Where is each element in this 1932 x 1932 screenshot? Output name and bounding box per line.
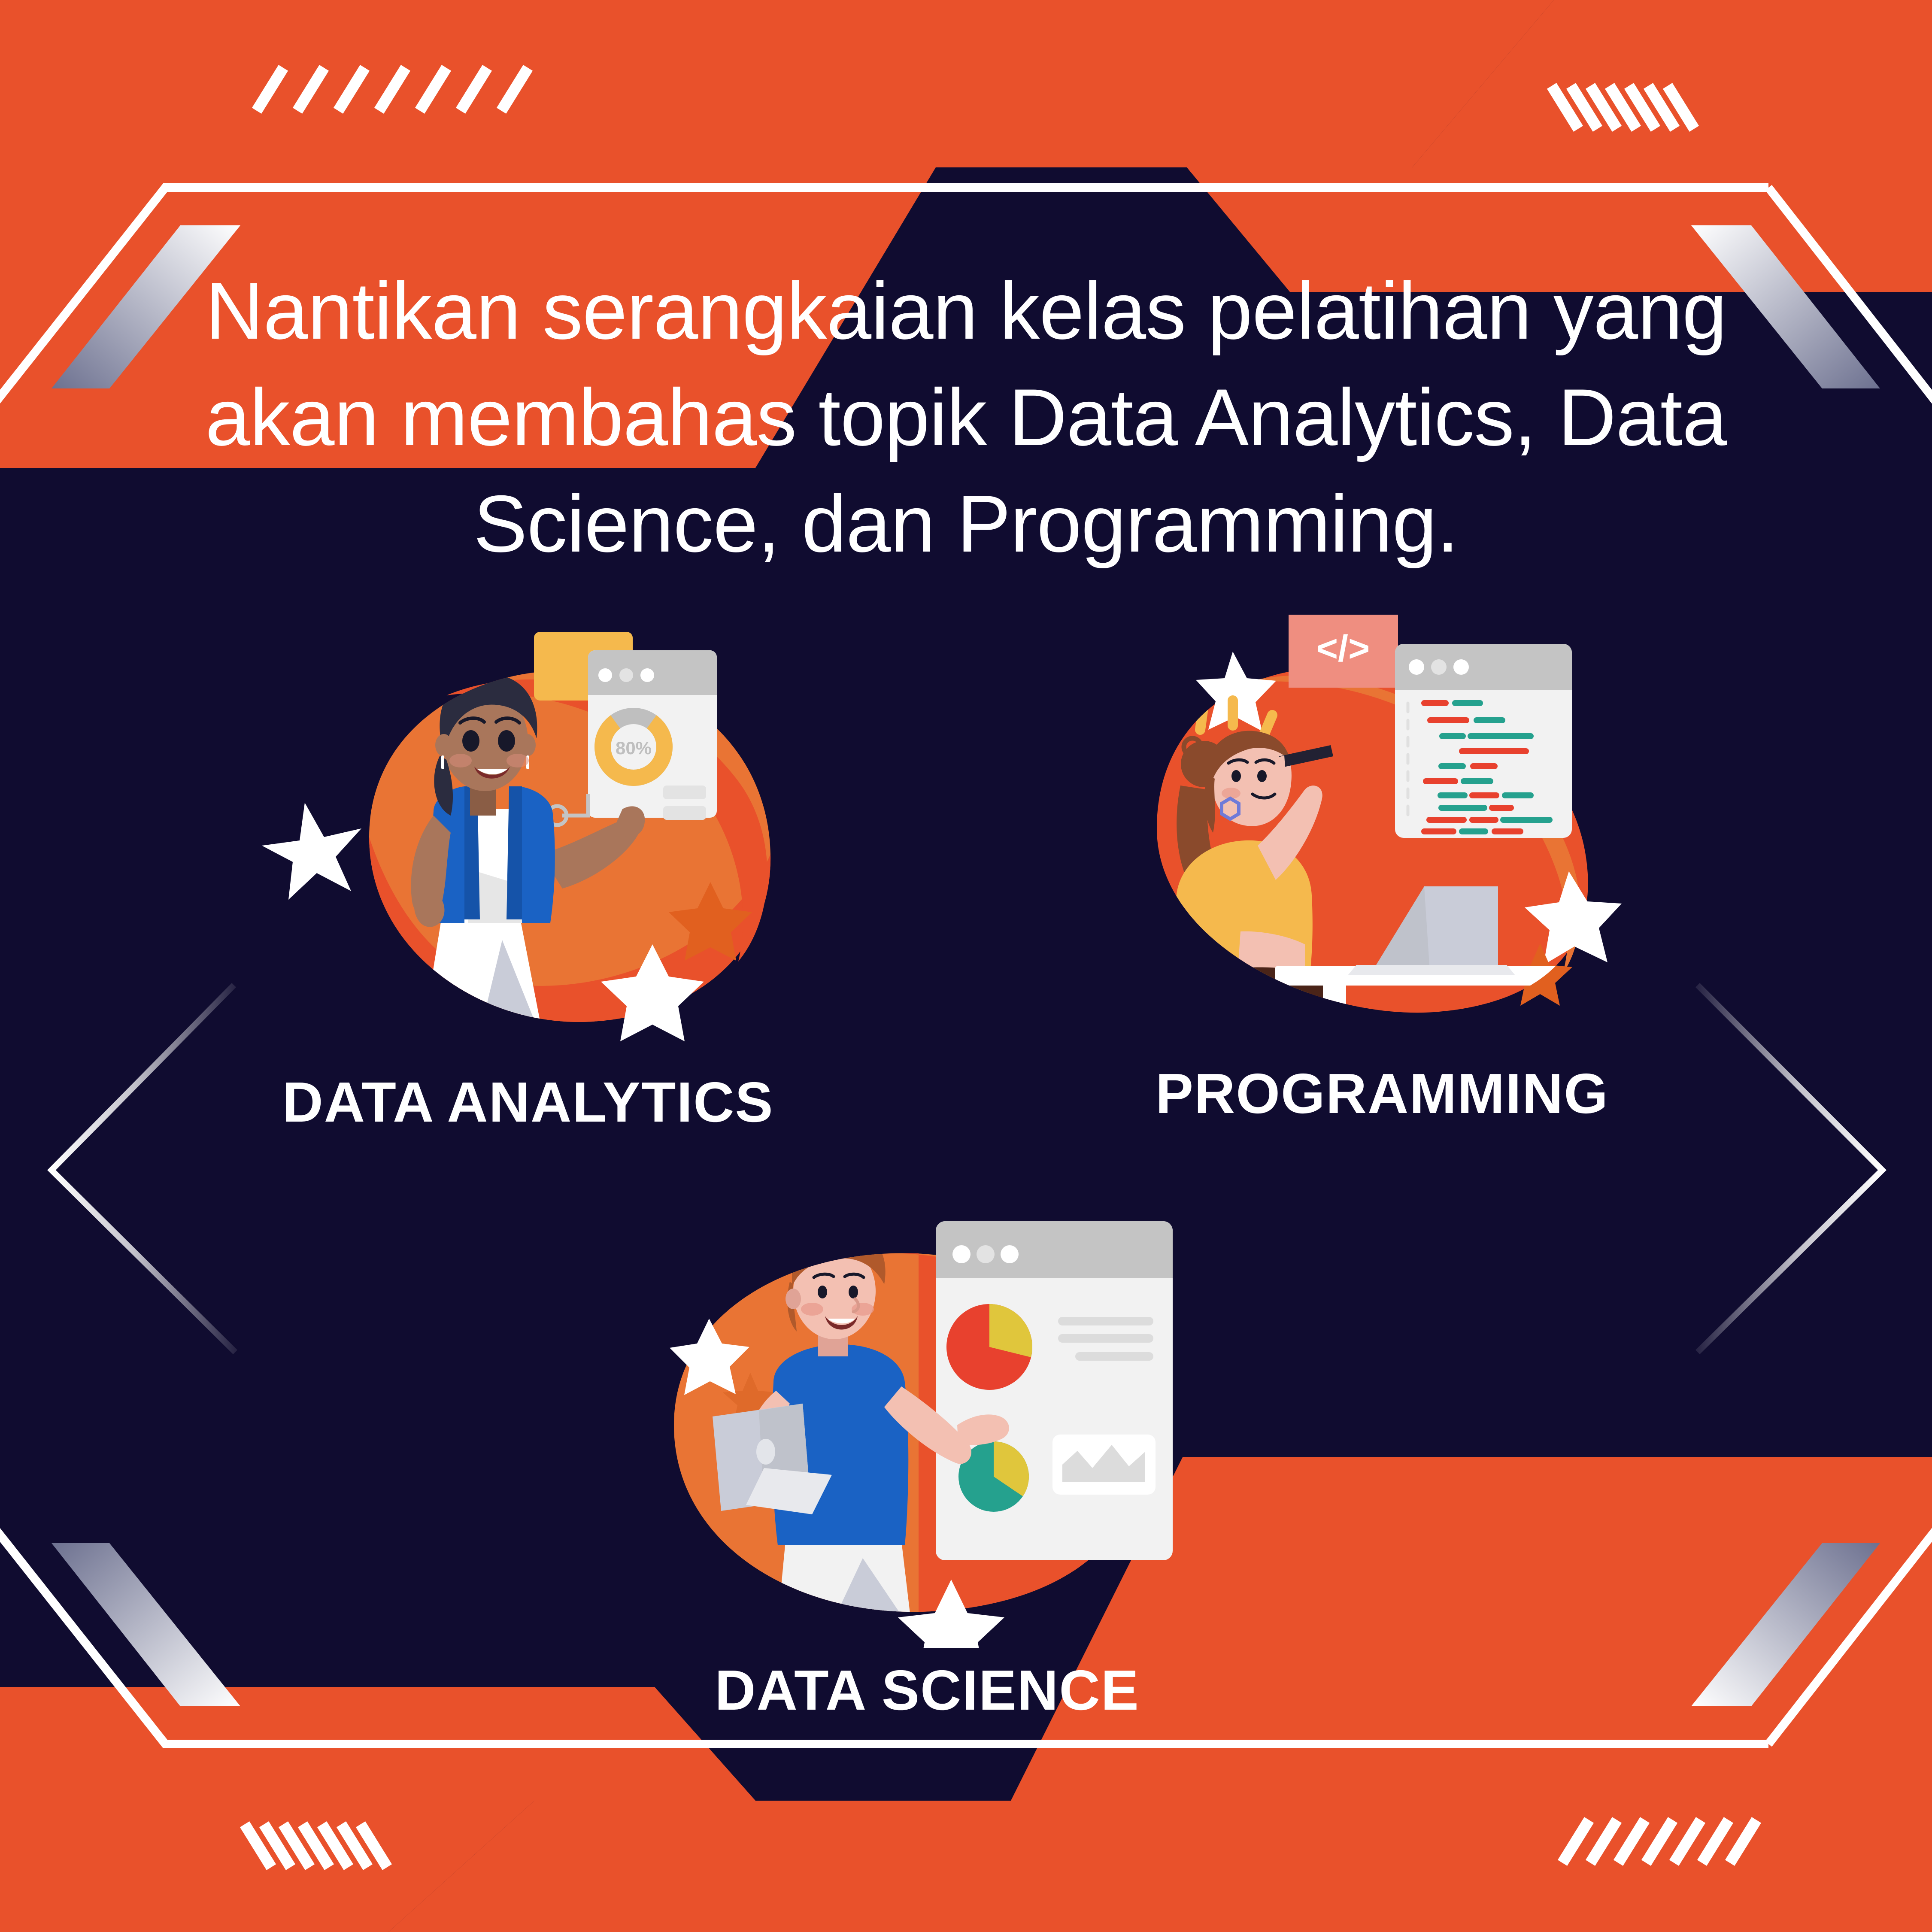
dashboard-window: 80%	[588, 650, 717, 820]
pie-chart-upper	[946, 1304, 1032, 1390]
window-dot-1	[1409, 659, 1424, 675]
topic-card-programming[interactable]: </>	[1116, 605, 1648, 1126]
window-row-2	[663, 806, 706, 820]
chevron-left-icon	[52, 985, 235, 1352]
code-badge-label: </>	[1316, 628, 1370, 669]
headline-block: Nantikan serangkaian kelas pelatihan yan…	[0, 258, 1932, 577]
slash-marks-bottom-right	[1562, 1820, 1756, 1863]
illustration-programming: </>	[1116, 605, 1648, 1052]
window-dot-2	[1431, 659, 1447, 675]
code-window	[1395, 644, 1572, 838]
card-label-programming: PROGRAMMING	[1156, 1061, 1609, 1126]
laptop-base	[1348, 965, 1515, 975]
window-row-1	[663, 786, 706, 799]
window-dot-3	[1453, 659, 1469, 675]
window-dot-3	[1001, 1245, 1019, 1263]
window-dot-2	[977, 1245, 995, 1263]
code-badge: </>	[1289, 615, 1398, 688]
window-row-2	[1058, 1334, 1153, 1343]
desk-foot	[1288, 1039, 1386, 1052]
window-row-1	[1058, 1317, 1153, 1325]
frame-accent-bottom-left	[52, 1543, 240, 1706]
slash-marks-bottom-left	[245, 1824, 387, 1867]
corner-shape-bottom-left	[0, 1687, 755, 1932]
topic-card-data-analytics[interactable]: 80%	[262, 614, 794, 1134]
star-decor-white-left	[262, 803, 361, 900]
illustration-data-science	[661, 1202, 1193, 1648]
slash-marks-top-right	[1552, 86, 1694, 129]
charts-window	[936, 1221, 1173, 1560]
corner-shape-top-right	[1187, 0, 1932, 292]
page-title: Nantikan serangkaian kelas pelatihan yan…	[129, 258, 1803, 577]
poster-canvas: Nantikan serangkaian kelas pelatihan yan…	[0, 0, 1932, 1932]
card-label-data-science: DATA SCIENCE	[715, 1658, 1140, 1723]
area-chart	[1052, 1435, 1156, 1495]
topic-card-data-science[interactable]: DATA SCIENCE	[661, 1202, 1193, 1723]
window-row-3	[1075, 1352, 1153, 1361]
window-dot-1	[952, 1245, 971, 1263]
window-dot-1	[598, 668, 612, 682]
card-label-data-analytics: DATA ANALYTICS	[282, 1070, 773, 1134]
frame-accent-bottom-right	[1691, 1543, 1880, 1706]
desk-leg	[1323, 983, 1346, 1052]
window-dot-2	[619, 668, 633, 682]
donut-gauge-value: 80%	[616, 738, 652, 758]
frame-line-bottom-right	[1768, 1502, 1932, 1744]
chevron-right-icon	[1698, 985, 1882, 1352]
window-dot-3	[640, 668, 654, 682]
illustration-data-analytics: 80%	[262, 614, 794, 1060]
slash-marks-top-left	[257, 68, 528, 111]
